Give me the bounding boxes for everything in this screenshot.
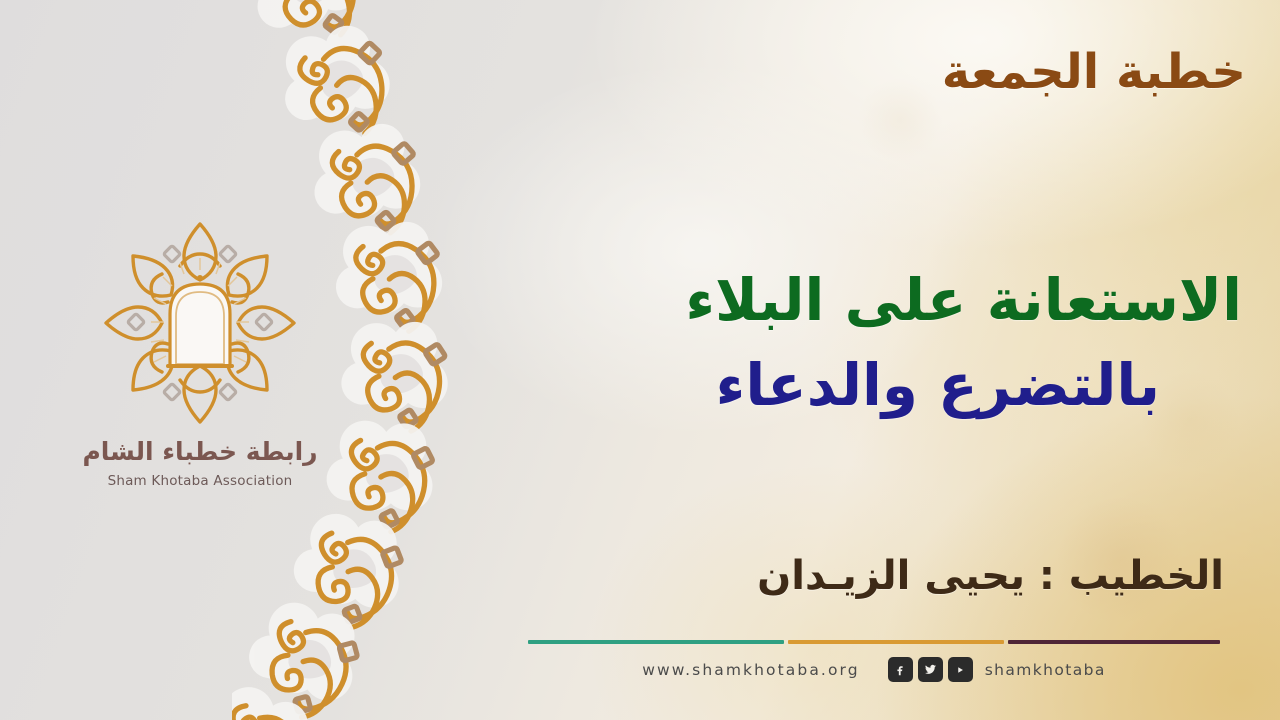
logo-block: رابطة خطباء الشام Sham Khotaba Associati… xyxy=(60,218,340,489)
speaker-name: الخطيب : يحيى الزيـدان xyxy=(757,556,1224,596)
footer-divider xyxy=(528,640,1220,644)
facebook-icon[interactable] xyxy=(888,657,913,682)
footer: www.shamkhotaba.org xyxy=(528,640,1220,700)
divider-segment-teal xyxy=(528,640,784,644)
logo-name-arabic: رابطة خطباء الشام xyxy=(60,438,340,466)
logo-name-english: Sham Khotaba Association xyxy=(60,473,340,489)
youtube-icon[interactable] xyxy=(948,657,973,682)
sermon-title: الاستعانة على البلاء بالتضرع والدعاء xyxy=(430,258,1246,427)
social-icons xyxy=(888,657,973,682)
islamic-star-mihrab-icon xyxy=(100,218,300,428)
content-column: خطبة الجمعة الاستعانة على البلاء بالتضرع… xyxy=(430,0,1246,720)
divider-segment-orange xyxy=(788,640,1004,644)
khutbah-title-card: رابطة خطباء الشام Sham Khotaba Associati… xyxy=(0,0,1280,720)
website-url[interactable]: www.shamkhotaba.org xyxy=(642,661,859,679)
title-line-1: الاستعانة على البلاء xyxy=(430,258,1246,343)
divider-segment-maroon xyxy=(1008,640,1220,644)
title-line-2: بالتضرع والدعاء xyxy=(430,343,1246,428)
twitter-icon[interactable] xyxy=(918,657,943,682)
footer-row: www.shamkhotaba.org xyxy=(528,657,1220,682)
social-handle[interactable]: shamkhotaba xyxy=(985,661,1106,679)
kicker-friday-sermon: خطبة الجمعة xyxy=(942,48,1246,96)
